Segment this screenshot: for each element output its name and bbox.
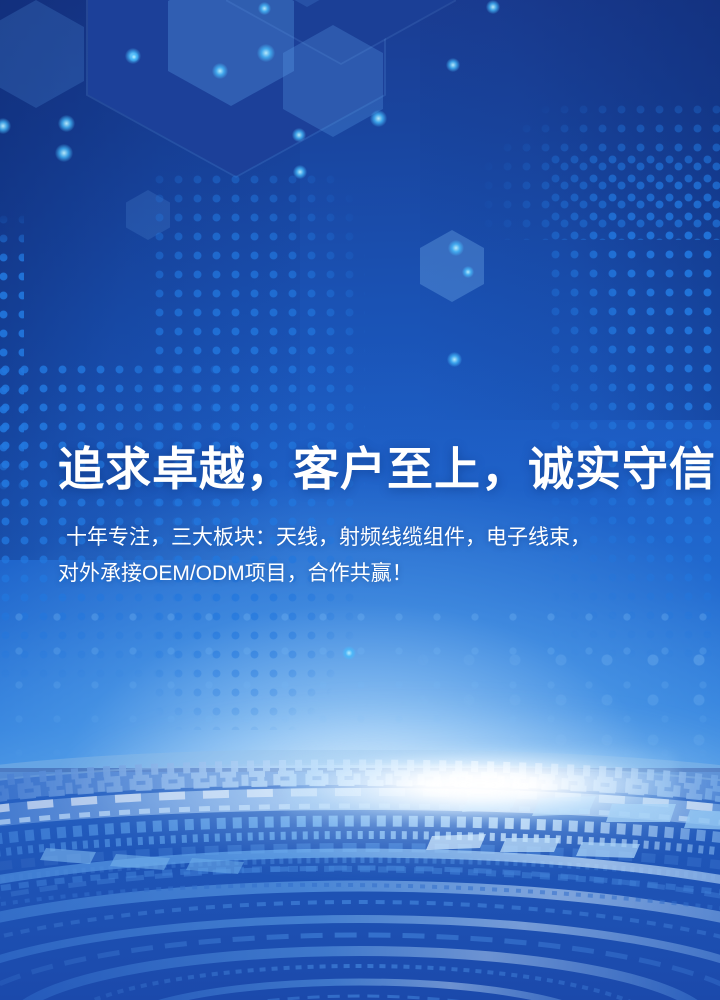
subtitle-line-1: 十年专注，三大板块：天线，射频线缆组件，电子线束， [58,520,676,556]
page-title: 追求卓越，客户至上，诚实守信 [58,440,676,498]
tech-disc-svg [0,750,720,1000]
subtitle: 十年专注，三大板块：天线，射频线缆组件，电子线束， 对外承接OEM/ODM项目，… [58,520,676,592]
subtitle-line-2: 对外承接OEM/ODM项目，合作共赢！ [58,556,676,592]
banner-canvas: 追求卓越，客户至上，诚实守信 十年专注，三大板块：天线，射频线缆组件，电子线束，… [0,0,720,1000]
tech-disc-graphic [0,750,720,1000]
copy-block: 追求卓越，客户至上，诚实守信 十年专注，三大板块：天线，射频线缆组件，电子线束，… [0,440,720,592]
background-gradient [0,0,720,768]
